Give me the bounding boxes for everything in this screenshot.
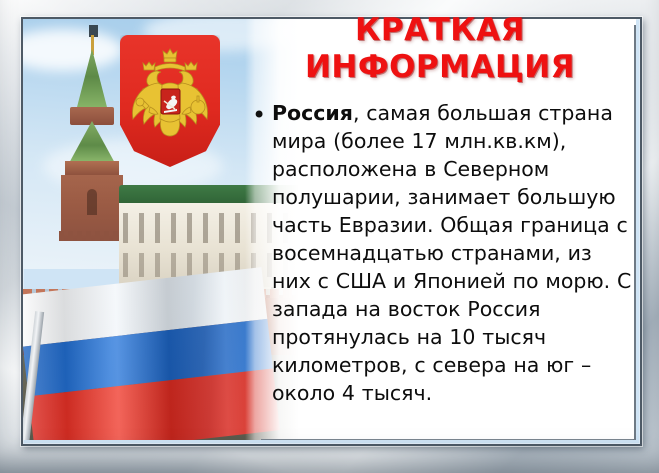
body-lead-term: Россия bbox=[272, 101, 353, 125]
title-line-1: КРАТКАЯ bbox=[244, 12, 636, 49]
body-rest-text: , самая большая страна мира (более 17 мл… bbox=[272, 101, 631, 405]
kremlin-tower bbox=[57, 25, 127, 240]
body-bullet-item: • Россия, самая большая страна мира (бол… bbox=[252, 99, 634, 407]
double-headed-eagle-icon bbox=[128, 45, 212, 149]
bullet-icon: • bbox=[252, 99, 272, 129]
title-line-2: ИНФОРМАЦИЯ bbox=[244, 49, 636, 86]
body-paragraph: Россия, самая большая страна мира (более… bbox=[272, 99, 634, 407]
slide-title: КРАТКАЯ ИНФОРМАЦИЯ bbox=[244, 12, 636, 86]
russian-coat-of-arms bbox=[120, 35, 220, 167]
presentation-slide: КРАТКАЯ ИНФОРМАЦИЯ • Россия, самая больш… bbox=[0, 0, 659, 473]
russian-flag bbox=[23, 267, 278, 440]
